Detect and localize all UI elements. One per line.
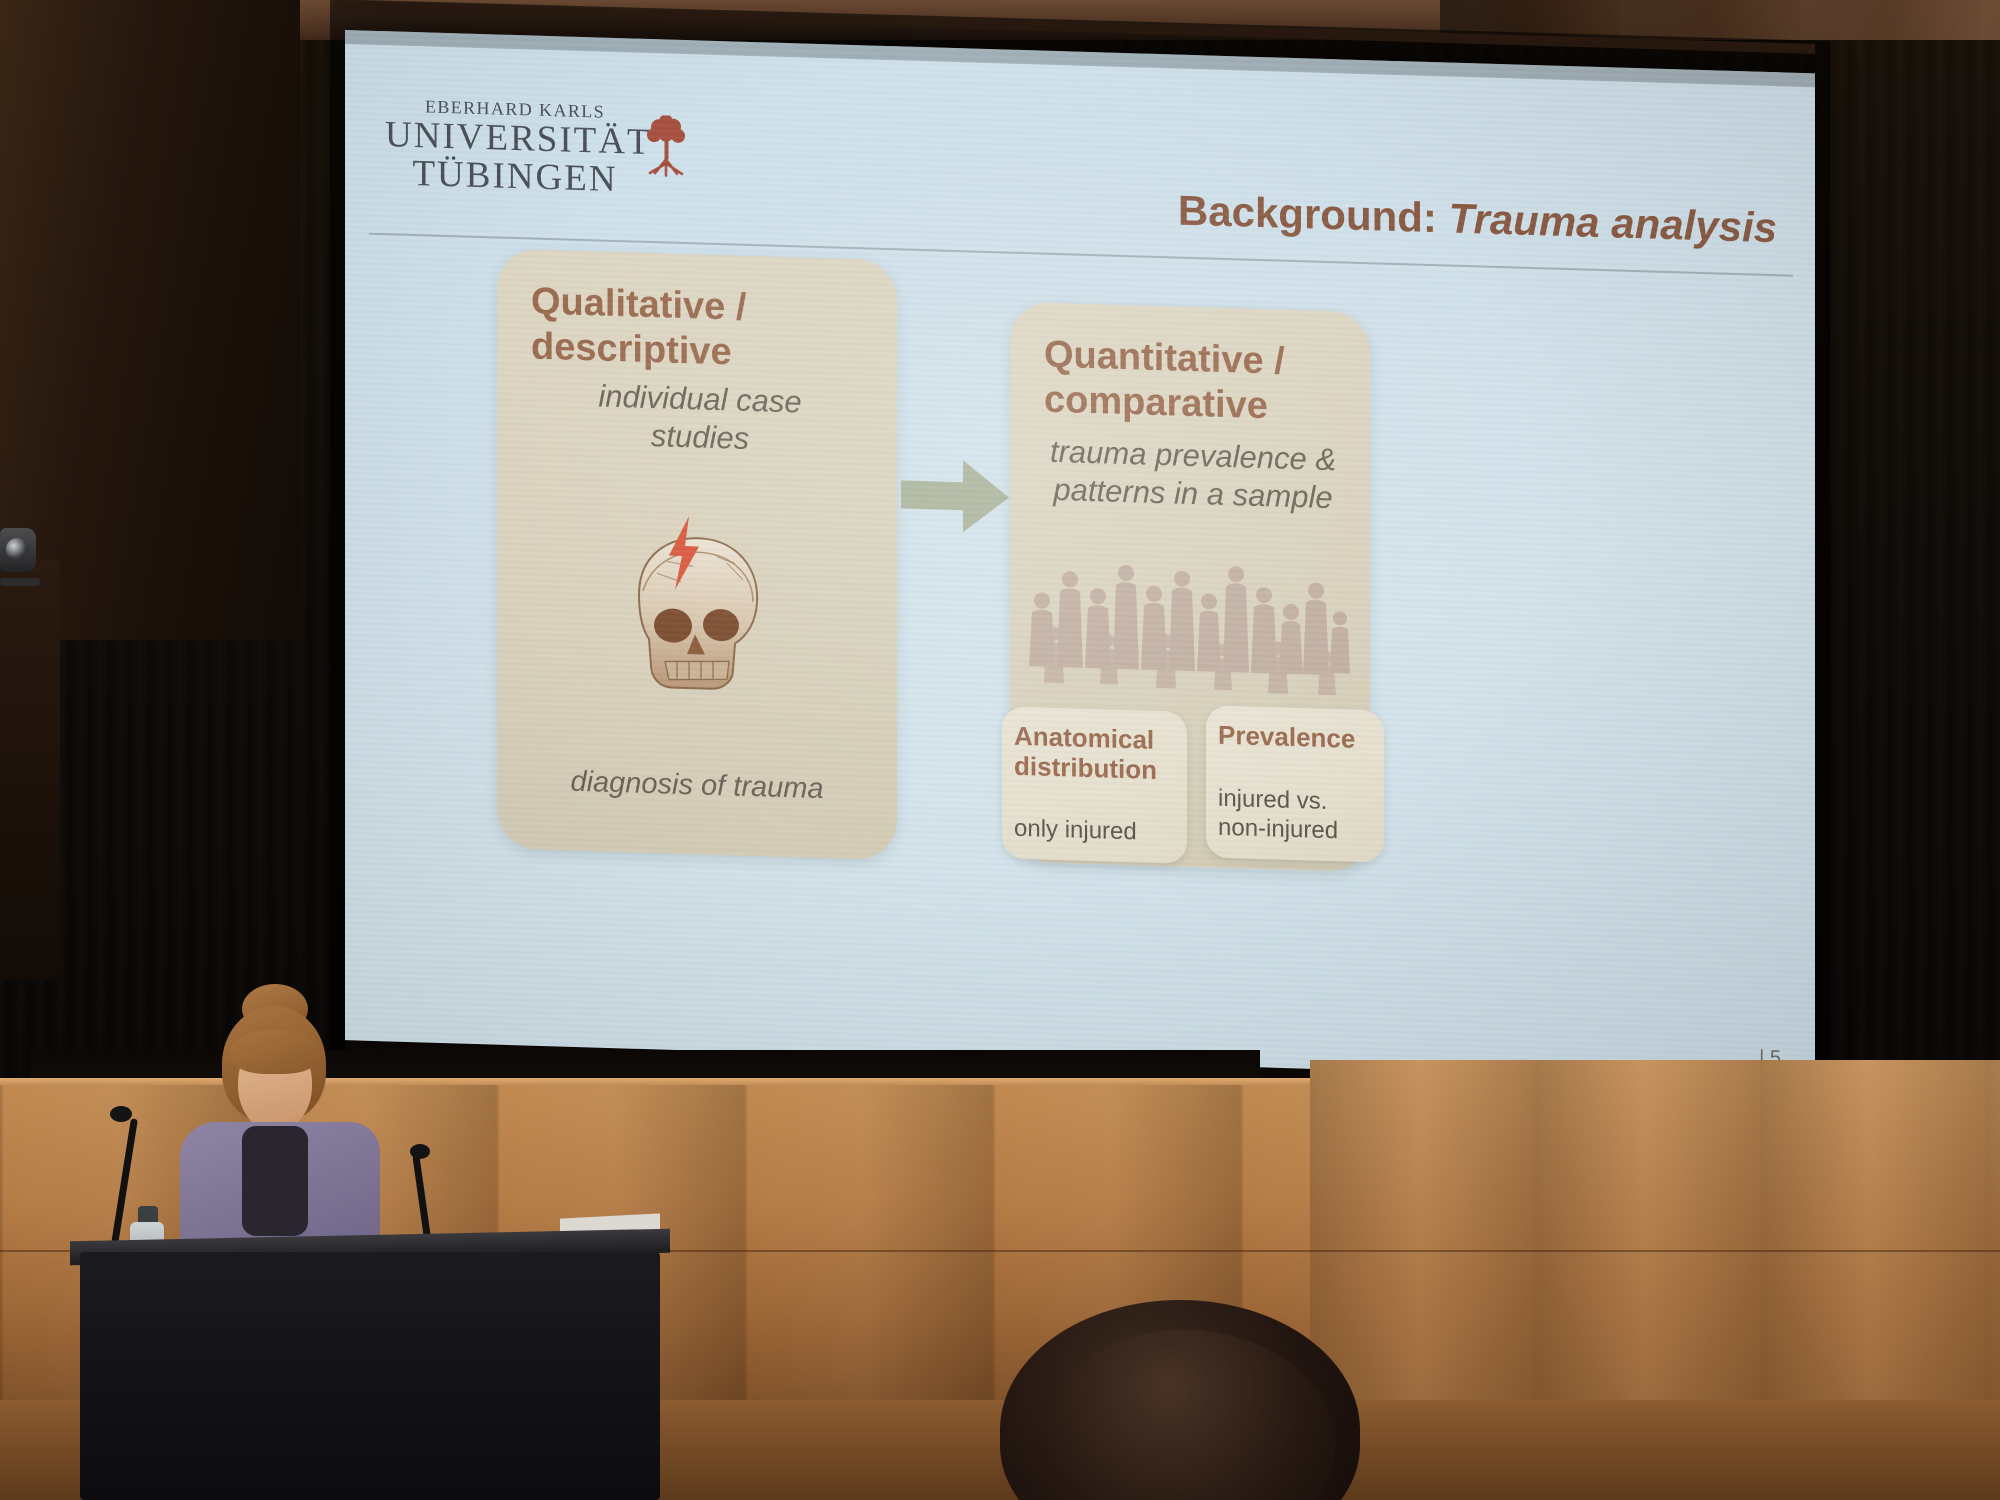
lecture-hall-scene: EBERHARD KARLS UNIVERSITÄT TÜBINGEN Back…	[0, 0, 2000, 1500]
crowd-of-people-silhouettes-icon	[1026, 552, 1356, 712]
qualitative-subtitle: individual case studies	[523, 375, 877, 461]
anatomical-heading-line1: Anatomical	[1014, 721, 1177, 756]
qualitative-footer: diagnosis of trauma	[517, 764, 877, 808]
ceiling-camera-icon	[0, 528, 36, 572]
lightning-bolt-icon	[665, 515, 705, 590]
quantitative-card: Quantitative / comparative trauma preval…	[1010, 302, 1370, 873]
logo-line-tuebingen: TÜBINGEN	[385, 154, 645, 199]
quantitative-heading-line2: comparative	[1044, 377, 1350, 431]
skull-with-lightning-bolt-icon	[607, 520, 787, 715]
prevalence-detail: injured vs. non-injured	[1218, 785, 1374, 846]
prevalence-heading-line1: Prevalence	[1218, 720, 1374, 755]
speaker-fringe	[230, 1030, 320, 1074]
microphone-head-icon	[110, 1106, 132, 1122]
anatomical-distribution-detail: only injured	[1014, 814, 1177, 847]
page-title: Background: Trauma analysis	[1178, 187, 1777, 253]
speaker-shirt	[242, 1126, 308, 1236]
tuebingen-tree-emblem-icon	[645, 115, 689, 178]
camera-lens-icon	[6, 538, 28, 560]
anatomical-heading-line2: distribution	[1014, 751, 1177, 786]
qualitative-heading: Qualitative / descriptive	[531, 279, 877, 379]
quantitative-subtitle-line2: patterns in a sample	[1036, 470, 1350, 517]
speaker-presenter	[180, 1000, 410, 1200]
quantitative-heading: Quantitative / comparative	[1044, 333, 1350, 432]
right-arrow-icon	[901, 456, 1011, 535]
prevalence-detail-line1: injured vs.	[1218, 785, 1374, 818]
qualitative-heading-line2: descriptive	[531, 324, 877, 379]
projection-screen: EBERHARD KARLS UNIVERSITÄT TÜBINGEN Back…	[345, 30, 1815, 1113]
anatomical-distribution-card: Anatomical distribution only injured	[1002, 706, 1187, 863]
anatomical-distribution-heading: Anatomical distribution	[1014, 721, 1177, 786]
wall-left-lower	[0, 560, 60, 980]
prevalence-detail-line2: non-injured	[1218, 813, 1374, 846]
prevalence-heading: Prevalence	[1218, 720, 1374, 755]
quantitative-subtitle: trauma prevalence & patterns in a sample	[1036, 432, 1350, 517]
title-emphasis: Trauma analysis	[1449, 195, 1777, 252]
title-prefix: Background:	[1178, 187, 1449, 242]
qualitative-card: Qualitative / descriptive individual cas…	[497, 248, 897, 860]
anatomical-detail-line1: only injured	[1014, 814, 1177, 847]
university-logo: EBERHARD KARLS UNIVERSITÄT TÜBINGEN	[385, 95, 645, 199]
camera-mount	[0, 578, 40, 586]
presentation-slide: EBERHARD KARLS UNIVERSITÄT TÜBINGEN Back…	[345, 44, 1815, 1097]
microphone-head-icon	[410, 1144, 430, 1159]
podium: wellcome connecting science	[80, 1252, 660, 1500]
prevalence-card: Prevalence injured vs. non-injured	[1206, 705, 1384, 862]
wall-left	[0, 0, 300, 640]
